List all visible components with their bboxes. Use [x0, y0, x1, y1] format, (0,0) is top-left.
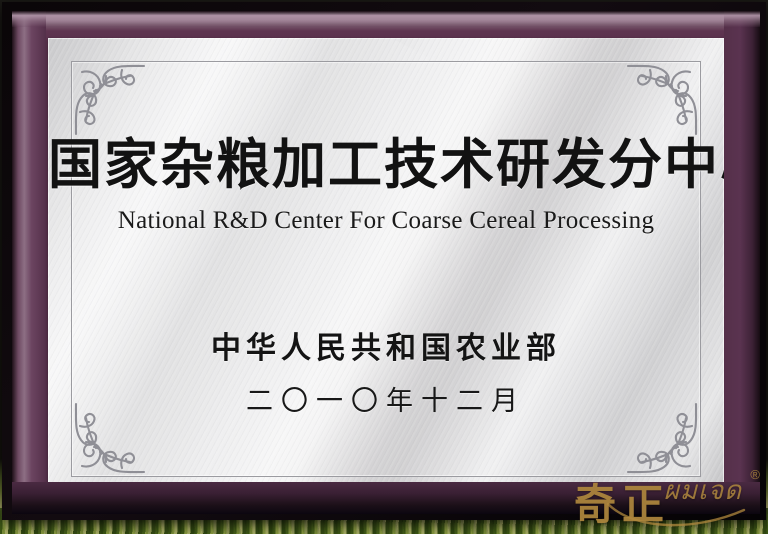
plaque-outer-rim: 国家杂粮加工技术研发分中心 National R&D Center For Co…: [2, 2, 766, 520]
plaque-title-english: National R&D Center For Coarse Cereal Pr…: [48, 207, 724, 235]
plaque-photo: 国家杂粮加工技术研发分中心 National R&D Center For Co…: [0, 0, 768, 534]
frame-top-highlight: [12, 11, 760, 27]
plaque-title-chinese: 国家杂粮加工技术研发分中心: [48, 136, 724, 193]
frame-bottom-shadow: [12, 482, 760, 514]
plaque-text-block: 国家杂粮加工技术研发分中心 National R&D Center For Co…: [48, 38, 724, 418]
plaque-issue-date: 二〇一〇年十二月: [48, 379, 724, 418]
plaque-frame: 国家杂粮加工技术研发分中心 National R&D Center For Co…: [12, 11, 760, 514]
silver-plate: 国家杂粮加工技术研发分中心 National R&D Center For Co…: [48, 38, 724, 500]
plaque-issuer: 中华人民共和国农业部: [48, 323, 724, 367]
